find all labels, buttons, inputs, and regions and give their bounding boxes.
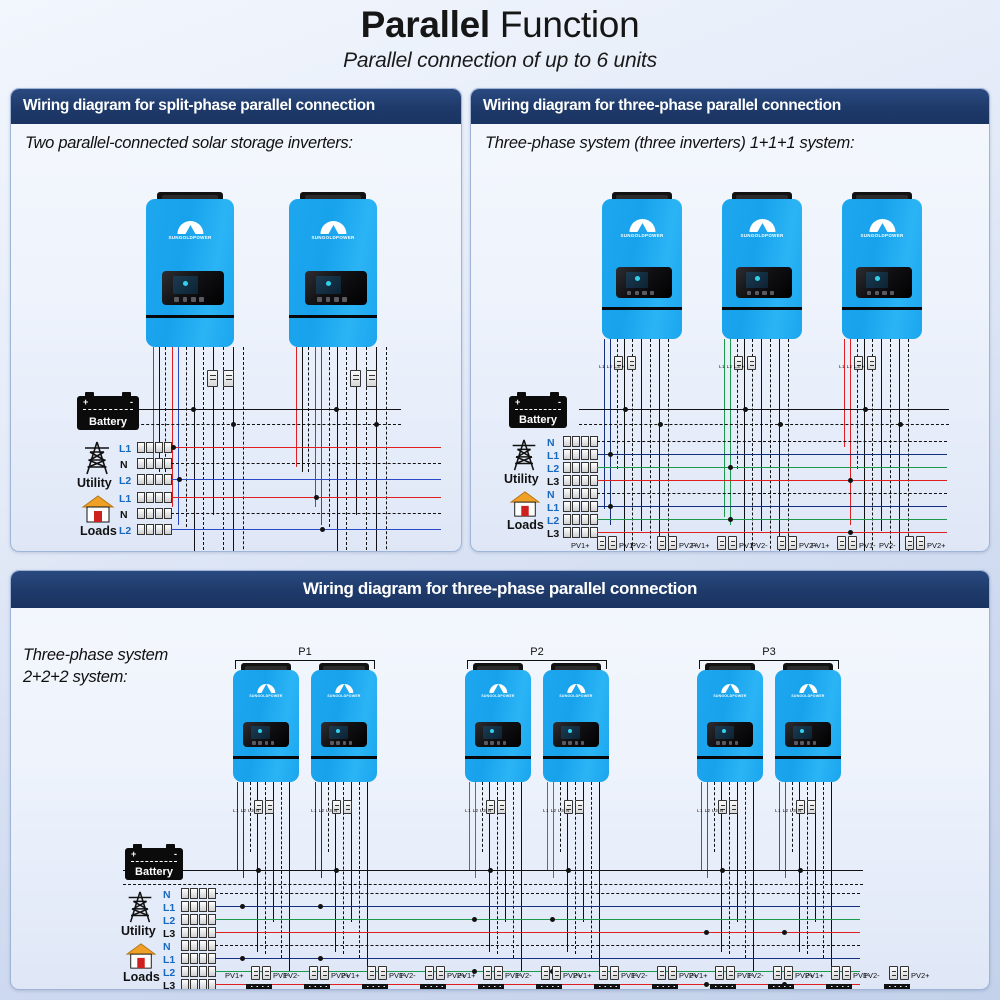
loads-breaker-L1[interactable] — [563, 501, 598, 512]
wire-dashed — [792, 782, 793, 852]
inverter-6[interactable]: SUNGOLDPOWER — [775, 670, 841, 782]
pv-breaker[interactable] — [597, 536, 606, 550]
inverter-lcd-panel[interactable] — [707, 722, 753, 747]
lcd-screen — [483, 726, 501, 739]
utility-pylon-icon — [123, 890, 157, 924]
pv-terminal-left: PV1+ — [805, 971, 824, 980]
pv-array-1: PV array — [237, 984, 281, 990]
ac-bus-L3 — [597, 480, 947, 481]
wire-dashed — [203, 347, 204, 552]
panel-three-phase-111: Wiring diagram for three-phase parallel … — [470, 88, 990, 552]
junction-dot — [177, 477, 182, 482]
pv-breaker[interactable] — [777, 536, 786, 550]
sunrise-arc-icon — [335, 684, 353, 693]
inverter-lcd-panel[interactable] — [243, 722, 289, 747]
junction-dot — [608, 504, 613, 509]
wire-red — [315, 347, 316, 507]
pv-terminal-left: PV1+ — [573, 971, 592, 980]
page-title-regular: Function — [490, 4, 640, 45]
breaker-block[interactable] — [343, 800, 352, 814]
breaker-block[interactable] — [207, 370, 218, 387]
pv-breaker[interactable] — [610, 966, 619, 980]
utility-breaker-N[interactable] — [137, 458, 172, 469]
pv-panel-icon — [304, 984, 330, 990]
junction-dot — [320, 527, 325, 532]
pv-terminal-right: PV1- — [859, 541, 876, 550]
breaker-block[interactable] — [366, 370, 377, 387]
wire-red — [844, 339, 845, 447]
inverter-brand-label: SUNGOLDPOWER — [559, 694, 592, 698]
junction-dot — [191, 407, 196, 412]
lcd-keys[interactable] — [562, 741, 584, 744]
inverter-lcd-panel[interactable] — [553, 722, 599, 747]
junction-dot — [374, 422, 379, 427]
battery-label: Battery — [77, 416, 139, 428]
battery-minus: - — [174, 850, 177, 859]
pv-breaker[interactable] — [367, 966, 376, 980]
wire-dashed — [346, 347, 347, 552]
ac-bus-L2 — [597, 467, 947, 468]
pv-breaker[interactable] — [788, 536, 797, 550]
junction-dot — [334, 868, 339, 873]
lcd-keys[interactable] — [627, 291, 654, 295]
inverter-lcd-panel[interactable] — [616, 267, 672, 298]
lcd-keys[interactable] — [484, 741, 506, 744]
breaker-block[interactable] — [807, 800, 816, 814]
wire-black — [194, 347, 195, 552]
inverter-3[interactable]: SUNGOLDPOWER — [842, 199, 922, 339]
pv-breaker[interactable] — [842, 966, 851, 980]
breaker-block[interactable] — [867, 356, 876, 370]
wire-red — [296, 347, 297, 467]
inverter-lcd-panel[interactable] — [856, 267, 912, 298]
breaker-block[interactable] — [223, 370, 234, 387]
pv-terminal-left: PV2- — [751, 541, 768, 550]
utility-breaker-L3[interactable] — [181, 927, 216, 938]
sunrise-arc-icon — [567, 684, 585, 693]
utility-phase-L1: L1 — [119, 444, 131, 454]
pv-breaker[interactable] — [900, 966, 909, 980]
group-bracket-P2: P2 — [467, 660, 607, 661]
pv-breaker[interactable] — [483, 966, 492, 980]
utility-phase-L2: L2 — [119, 476, 131, 486]
pv-breaker[interactable] — [541, 966, 550, 980]
utility-phase-L2: L2 — [163, 916, 175, 926]
pv-panel-icon — [594, 984, 620, 990]
junction-dot — [782, 930, 787, 935]
inverter-2[interactable]: SUNGOLDPOWER — [311, 670, 377, 782]
pv-breaker[interactable] — [552, 966, 561, 980]
junction-dot — [240, 956, 245, 961]
junction-dot — [472, 917, 477, 922]
inverter-5[interactable]: SUNGOLDPOWER — [697, 670, 763, 782]
pv-breaker[interactable] — [668, 966, 677, 980]
pv-breaker[interactable] — [309, 966, 318, 980]
pv-panel-icon — [710, 984, 736, 990]
pv-array-10: PV array — [759, 984, 803, 990]
group-bracket-P1: P1 — [235, 660, 375, 661]
inverter-lcd-panel[interactable] — [736, 267, 792, 298]
breaker-block[interactable] — [747, 356, 756, 370]
inverter-2[interactable]: SUNGOLDPOWER — [722, 199, 802, 339]
pv-panel-icon — [246, 984, 272, 990]
lcd-screen — [251, 726, 269, 739]
ac-bus-L2 — [215, 919, 860, 920]
inverter-lcd-panel[interactable] — [162, 271, 224, 305]
sunrise-arc-icon — [177, 221, 203, 234]
wire-black — [753, 782, 754, 972]
ac-bus-loads-L2 — [597, 519, 947, 520]
inverter-logo: SUNGOLDPOWER — [327, 684, 360, 698]
pv-breaker[interactable] — [657, 536, 666, 550]
wire-red — [701, 782, 702, 870]
panel-split-phase-body: Two parallel-connected solar storage inv… — [11, 124, 461, 552]
loads-breaker-L3[interactable] — [181, 979, 216, 990]
inverter-seam — [465, 756, 531, 759]
lcd-keys[interactable] — [252, 741, 274, 744]
wire-dashed — [243, 347, 244, 552]
loads-breaker-N[interactable] — [563, 488, 598, 499]
inverter-logo: SUNGOLDPOWER — [620, 219, 663, 238]
utility-breaker-L2[interactable] — [181, 914, 216, 925]
loads-phase-L2: L2 — [163, 968, 175, 978]
pv-terminal-left: PV2- — [863, 971, 880, 980]
pv-breaker[interactable] — [728, 536, 737, 550]
battery-bus-negative — [123, 884, 863, 885]
pv-breaker[interactable] — [831, 966, 840, 980]
utility-phase-L1: L1 — [163, 903, 175, 913]
pv-array-4: PV array — [411, 984, 455, 990]
sunrise-arc-icon — [799, 684, 817, 693]
battery-icon: + - Battery — [509, 396, 567, 428]
loads-breaker-L2[interactable] — [181, 966, 216, 977]
lcd-screen — [626, 272, 648, 288]
utility-label: Utility — [121, 924, 156, 938]
inverter-lcd-panel[interactable] — [475, 722, 521, 747]
pv-array-2: PV array — [295, 984, 339, 990]
loads-breaker-N[interactable] — [181, 940, 216, 951]
inverter-logo: SUNGOLDPOWER — [249, 684, 282, 698]
wire-dashed — [329, 347, 330, 527]
utility-phase-N: N — [163, 890, 171, 900]
group-label-P2: P2 — [530, 646, 543, 658]
breaker-block[interactable] — [497, 800, 506, 814]
loads-breaker-L2[interactable] — [137, 524, 172, 535]
lcd-keys[interactable] — [867, 291, 894, 295]
battery-label: Battery — [509, 414, 567, 426]
utility-breaker-L1[interactable] — [563, 449, 598, 460]
inverter-seam — [697, 756, 763, 759]
wire-dashed — [714, 782, 715, 852]
wire-navy — [315, 782, 316, 870]
loads-phase-L2: L2 — [119, 526, 131, 536]
ac-bus-L3 — [215, 932, 860, 933]
loads-phase-L3: L3 — [163, 981, 175, 990]
pv-terminal-left: PV1+ — [225, 971, 244, 980]
junction-dot — [231, 422, 236, 427]
wire-green — [475, 782, 476, 878]
group-bracket-P3: P3 — [699, 660, 839, 661]
utility-breaker-L1[interactable] — [137, 442, 172, 453]
pv-terminal-left: PV2- — [283, 971, 300, 980]
pv-terminal-left: PV1+ — [341, 971, 360, 980]
inverter-lcd-panel[interactable] — [785, 722, 831, 747]
ac-bus-loads-L3 — [597, 532, 947, 533]
pv-terminal-left: PV1+ — [691, 541, 710, 550]
inverter-brand-label: SUNGOLDPOWER — [740, 233, 783, 238]
junction-dot — [608, 452, 613, 457]
pv-breaker[interactable] — [916, 536, 925, 550]
inverter-1[interactable]: SUNGOLDPOWER — [602, 199, 682, 339]
loads-breaker-L1[interactable] — [137, 492, 172, 503]
junction-dot — [334, 407, 339, 412]
junction-dot — [566, 868, 571, 873]
pv-breaker[interactable] — [251, 966, 260, 980]
utility-breaker-N[interactable] — [181, 888, 216, 899]
loads-breaker-L3[interactable] — [563, 527, 598, 538]
battery-bus-positive — [121, 409, 401, 410]
lcd-keys[interactable] — [330, 741, 352, 744]
inverter-logo: SUNGOLDPOWER — [311, 221, 354, 240]
wire-black — [599, 782, 600, 972]
loads-phase-L3: L3 — [547, 529, 559, 539]
ac-bus-loads-L1 — [215, 958, 860, 959]
pv-terminal-left: PV2- — [399, 971, 416, 980]
utility-phase-L2: L2 — [547, 464, 559, 474]
junction-dot — [550, 917, 555, 922]
pv-panel-icon — [420, 984, 446, 990]
lcd-keys[interactable] — [317, 297, 347, 301]
pv-array-3: PV array — [353, 984, 397, 990]
inverter-brand-label: SUNGOLDPOWER — [791, 694, 824, 698]
pv-panel-icon — [768, 984, 794, 990]
loads-phase-N: N — [120, 510, 128, 520]
sunrise-arc-icon — [489, 684, 507, 693]
terminal-text: L1 L2 L3 N — [311, 808, 337, 813]
ac-bus-L2 — [171, 479, 441, 480]
wire-red — [172, 347, 173, 507]
junction-dot — [728, 517, 733, 522]
battery-bus-positive — [579, 409, 949, 410]
sunrise-arc-icon — [749, 219, 775, 232]
junction-dot — [488, 868, 493, 873]
sunrise-arc-icon — [629, 219, 655, 232]
loads-breaker-L2[interactable] — [563, 514, 598, 525]
pv-array-11: PV array — [817, 984, 861, 990]
panel-split-phase: Wiring diagram for split-phase parallel … — [10, 88, 462, 552]
lcd-screen — [561, 726, 579, 739]
terminal-text: L1 L2 L3 N — [543, 808, 569, 813]
inverter-logo: SUNGOLDPOWER — [168, 221, 211, 240]
utility-breaker-L2[interactable] — [563, 462, 598, 473]
inverter-lcd-panel[interactable] — [321, 722, 367, 747]
pv-breaker[interactable] — [320, 966, 329, 980]
pv-breaker[interactable] — [657, 966, 666, 980]
utility-breaker-L2[interactable] — [137, 474, 172, 485]
loads-house-icon — [509, 490, 541, 518]
inverter-logo: SUNGOLDPOWER — [481, 684, 514, 698]
utility-label: Utility — [504, 472, 539, 486]
wire-black — [337, 347, 338, 552]
pv-breaker[interactable] — [837, 536, 846, 550]
terminal-text: L1 L2 L3 N — [599, 364, 625, 369]
junction-dot — [256, 868, 261, 873]
pv-breaker[interactable] — [773, 966, 782, 980]
pv-breaker[interactable] — [599, 966, 608, 980]
inverter-brand-label: SUNGOLDPOWER — [249, 694, 282, 698]
panel-three-phase-222: Wiring diagram for three-phase parallel … — [10, 570, 990, 990]
terminal-text: L1 L2 L3 N — [775, 808, 801, 813]
inverter-logo: SUNGOLDPOWER — [713, 684, 746, 698]
battery-icon: + - Battery — [125, 848, 183, 880]
wire-navy — [321, 782, 322, 878]
panel-three-phase-111-body: Three-phase system (three inverters) 1+1… — [471, 124, 989, 552]
battery-bus-negative — [579, 424, 949, 425]
inverter-brand-label: SUNGOLDPOWER — [481, 694, 514, 698]
utility-phase-N: N — [120, 460, 128, 470]
pv-breaker[interactable] — [726, 966, 735, 980]
inverter-1[interactable]: SUNGOLDPOWER — [146, 199, 234, 347]
loads-breaker-L1[interactable] — [181, 953, 216, 964]
pv-breaker[interactable] — [715, 966, 724, 980]
utility-phase-N: N — [547, 438, 555, 448]
wire-dashed — [482, 782, 483, 852]
junction-dot — [623, 407, 628, 412]
ac-bus-loads-L2 — [171, 529, 441, 530]
inverter-seam — [311, 756, 377, 759]
loads-house-icon — [81, 494, 115, 524]
pv-terminal-left: PV1+ — [571, 541, 590, 550]
inverter-brand-label: SUNGOLDPOWER — [860, 233, 903, 238]
junction-dot — [720, 868, 725, 873]
inverter-brand-label: SUNGOLDPOWER — [327, 694, 360, 698]
ac-bus-loads-L1 — [171, 497, 441, 498]
ac-bus-loads-N — [215, 945, 860, 946]
pv-breaker[interactable] — [889, 966, 898, 980]
utility-breaker-L3[interactable] — [563, 475, 598, 486]
terminal-text: L1 L2 L3 N — [719, 364, 745, 369]
lcd-keys[interactable] — [747, 291, 774, 295]
lcd-keys[interactable] — [794, 741, 816, 744]
utility-breaker-N[interactable] — [563, 436, 598, 447]
pv-breaker[interactable] — [848, 536, 857, 550]
pv-breaker[interactable] — [262, 966, 271, 980]
lcd-keys[interactable] — [716, 741, 738, 744]
wire-red — [779, 782, 780, 870]
panel-three-phase-222-caption: Three-phase system 2+2+2 system: — [23, 644, 223, 689]
group-label-P3: P3 — [762, 646, 775, 658]
breaker-block[interactable] — [729, 800, 738, 814]
battery-dash — [515, 409, 561, 410]
inverter-lcd-panel[interactable] — [305, 271, 367, 305]
inverter-seam — [722, 307, 802, 310]
loads-label: Loads — [80, 524, 117, 538]
pv-breaker[interactable] — [608, 536, 617, 550]
battery-minus: - — [130, 398, 133, 407]
page-title-bold: Parallel — [361, 4, 490, 45]
ac-bus-loads-N — [597, 493, 947, 494]
inverter-seam — [602, 307, 682, 310]
pv-panel-icon — [478, 984, 504, 990]
inverter-4[interactable]: SUNGOLDPOWER — [543, 670, 609, 782]
loads-house-icon — [125, 942, 157, 970]
breaker-block[interactable] — [350, 370, 361, 387]
ac-bus-loads-N — [171, 513, 441, 514]
terminal-text: L1 L2 L3 N — [697, 808, 723, 813]
junction-dot — [728, 465, 733, 470]
pv-breaker[interactable] — [494, 966, 503, 980]
utility-pylon-icon — [79, 440, 115, 476]
pv-panel-icon — [536, 984, 562, 990]
junction-dot — [658, 422, 663, 427]
pv-breaker[interactable] — [378, 966, 387, 980]
pv-breaker[interactable] — [425, 966, 434, 980]
inverter-seam — [543, 756, 609, 759]
inverter-3[interactable]: SUNGOLDPOWER — [465, 670, 531, 782]
breaker-block[interactable] — [575, 800, 584, 814]
inverter-logo: SUNGOLDPOWER — [791, 684, 824, 698]
pv-panel-icon — [652, 984, 678, 990]
breaker-block[interactable] — [627, 356, 636, 370]
utility-breaker-L1[interactable] — [181, 901, 216, 912]
inverter-seam — [146, 315, 234, 318]
battery-plus: + — [83, 398, 88, 407]
panel-three-phase-111-header: Wiring diagram for three-phase parallel … — [471, 89, 989, 124]
wire-black — [367, 782, 368, 972]
wire-black — [641, 339, 642, 531]
loads-breaker-N[interactable] — [137, 508, 172, 519]
inverter-logo: SUNGOLDPOWER — [860, 219, 903, 238]
pv-array-8: PV array — [643, 984, 687, 990]
inverter-logo: SUNGOLDPOWER — [559, 684, 592, 698]
pv-breaker[interactable] — [436, 966, 445, 980]
pv-terminal-left: PV1+ — [689, 971, 708, 980]
junction-dot — [318, 904, 323, 909]
group-label-P1: P1 — [298, 646, 311, 658]
wire-navy — [237, 782, 238, 870]
pv-array-9: PV array — [701, 984, 745, 990]
pv-breaker[interactable] — [905, 536, 914, 550]
loads-phase-L1: L1 — [119, 494, 131, 504]
panel-three-phase-222-header: Wiring diagram for three-phase parallel … — [11, 571, 989, 608]
pv-terminal-left: PV2- — [515, 971, 532, 980]
pv-breaker[interactable] — [668, 536, 677, 550]
parallel-function-diagram: Parallel Function Parallel connection of… — [0, 0, 1000, 1000]
battery-signs: + - — [77, 398, 139, 407]
pv-terminal-left: PV2- — [747, 971, 764, 980]
wire-black — [831, 782, 832, 972]
wire-dashed — [328, 782, 329, 852]
panel-three-phase-222-body: Three-phase system 2+2+2 system: P1 P2 P… — [11, 608, 989, 990]
lcd-screen — [715, 726, 733, 739]
panel-split-phase-caption: Two parallel-connected solar storage inv… — [25, 132, 353, 154]
lcd-screen — [866, 272, 888, 288]
ac-bus-L1 — [215, 906, 860, 907]
wire-green — [469, 782, 470, 870]
inverter-1[interactable]: SUNGOLDPOWER — [233, 670, 299, 782]
battery-plus: + — [515, 398, 520, 407]
lcd-keys[interactable] — [174, 297, 204, 301]
pv-array-12: PV array — [875, 984, 919, 990]
pv-breaker[interactable] — [784, 966, 793, 980]
battery-plus: + — [131, 850, 136, 859]
page-subtitle: Parallel connection of up to 6 units — [0, 49, 1000, 73]
breaker-block[interactable] — [265, 800, 274, 814]
sunrise-arc-icon — [869, 219, 895, 232]
junction-dot — [778, 422, 783, 427]
inverter-2[interactable]: SUNGOLDPOWER — [289, 199, 377, 347]
pv-breaker[interactable] — [717, 536, 726, 550]
